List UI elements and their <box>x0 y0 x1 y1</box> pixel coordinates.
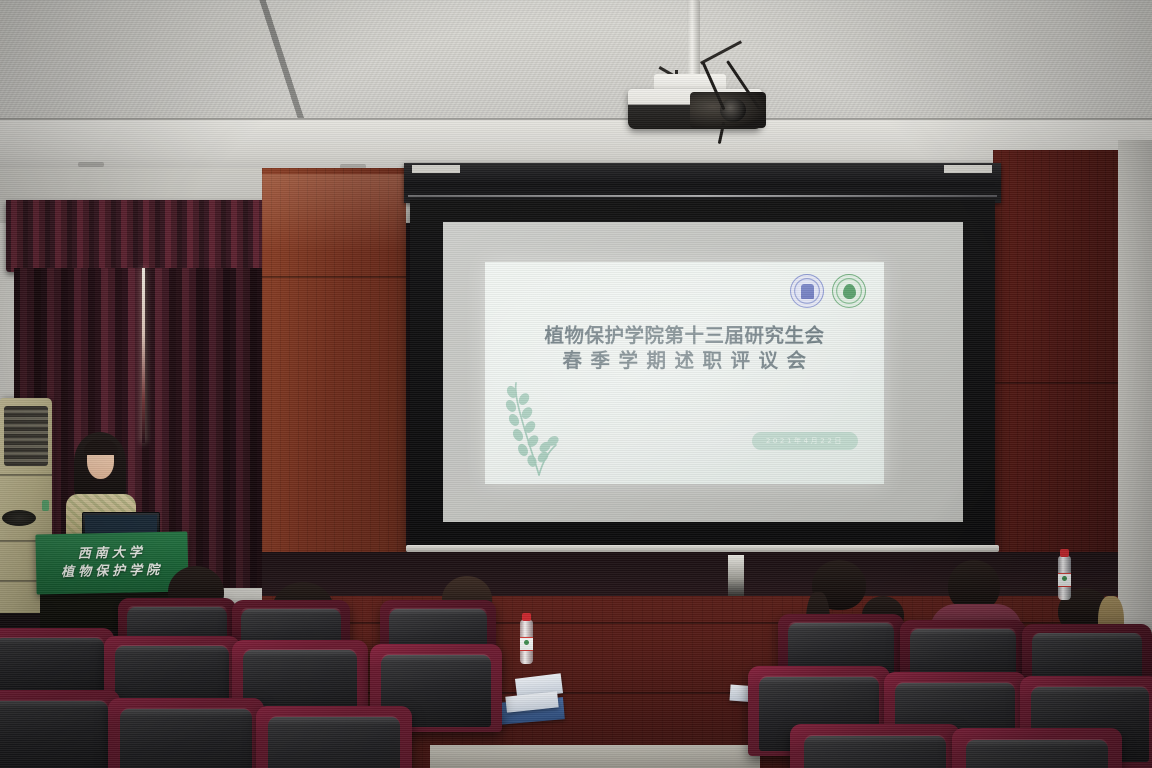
laptop-screen <box>85 515 157 533</box>
ceiling-vent-left <box>78 162 104 167</box>
wood-panel-sheen <box>262 174 406 252</box>
ac-grille-icon <box>4 406 48 466</box>
wood-seam-left <box>262 276 406 278</box>
seat-highlight <box>243 649 357 657</box>
ac-indicator-light <box>42 500 49 511</box>
seat-highlight <box>910 628 1016 635</box>
ac-seam-a <box>0 474 52 476</box>
table-row-seat-1-4[interactable] <box>952 728 1122 768</box>
seat-highlight <box>0 637 104 644</box>
podium-banner: 西南大学 植物保护学院 <box>35 531 188 594</box>
bottle-cap-icon-right <box>1060 549 1069 557</box>
seat-highlight <box>759 676 878 684</box>
right-wall-edge <box>1118 140 1152 640</box>
seat-highlight <box>389 608 486 615</box>
table-row-seat-1-3[interactable] <box>790 724 960 768</box>
bottle-label-mark-right <box>1062 576 1067 581</box>
slide-content: 植物保护学院第十三届研究生会 春季学期述职评议会 <box>485 262 884 484</box>
screen-housing-rail <box>408 195 997 197</box>
university-crest-glyph <box>801 284 814 299</box>
vine-decoration-icon <box>499 379 565 482</box>
projector-lens-icon <box>720 98 746 122</box>
podium-banner-line-1: 西南大学 <box>78 545 146 564</box>
seat-highlight <box>1031 686 1149 694</box>
podium-banner-line-2: 植物保护学院 <box>61 562 163 582</box>
seat-highlight <box>966 739 1109 748</box>
seat-highlight <box>895 682 1014 690</box>
water-bottle-right[interactable] <box>1058 556 1071 600</box>
slide-date-badge: 2021年4月22日 <box>752 432 858 450</box>
housing-tab-left <box>412 165 460 173</box>
southwest-university-logo <box>790 274 824 308</box>
seat-cushion <box>268 717 399 768</box>
seat-highlight <box>268 716 399 724</box>
stage-floor-strip <box>430 745 760 768</box>
college-of-plant-protection-logo <box>832 274 866 308</box>
seat-highlight <box>115 645 229 653</box>
table-row-seat-1-1[interactable] <box>108 698 264 768</box>
housing-tab-right <box>944 165 992 173</box>
water-bottle-center[interactable] <box>520 620 533 664</box>
seat-highlight <box>127 606 226 612</box>
presentation-hall-photo: 植物保护学院第十三届研究生会 春季学期述职评议会 <box>0 0 1152 768</box>
seat-highlight <box>241 608 340 614</box>
seat-highlight <box>804 735 947 744</box>
slide-title-line-1: 植物保护学院第十三届研究生会 <box>485 324 884 348</box>
seat-cushion <box>0 701 108 768</box>
table-row-seat-1-0[interactable] <box>0 690 120 768</box>
plant-leaf-glyph <box>843 284 856 299</box>
curtain-valance <box>6 200 268 272</box>
slide-title: 植物保护学院第十三届研究生会 春季学期述职评议会 <box>485 324 884 375</box>
seat-highlight <box>381 654 492 662</box>
podium-banner-text: 西南大学 植物保护学院 <box>35 531 188 594</box>
presenter-fringe <box>84 440 118 455</box>
wall-post-marker <box>728 555 744 597</box>
bottle-cap-icon <box>522 613 531 621</box>
seat-cushion <box>120 709 251 768</box>
slide-title-line-2: 春季学期述职评议会 <box>485 348 884 374</box>
wood-panel-right <box>993 150 1118 620</box>
seat-highlight <box>788 622 894 629</box>
projection-screen-housing <box>404 163 1001 203</box>
bottle-label-mark <box>524 640 529 645</box>
screen-bottom-bar <box>406 545 999 552</box>
seat-highlight <box>120 708 251 716</box>
slide-logo-group <box>790 274 866 308</box>
seat-highlight <box>0 700 108 708</box>
wood-seam-right <box>993 382 1118 384</box>
projector-mount-pole <box>687 0 700 76</box>
table-row-seat-1-2[interactable] <box>256 706 412 768</box>
projected-slide: 植物保护学院第十三届研究生会 春季学期述职评议会 <box>485 262 884 484</box>
ac-vent-icon <box>2 510 36 526</box>
seat-highlight <box>1032 633 1141 640</box>
